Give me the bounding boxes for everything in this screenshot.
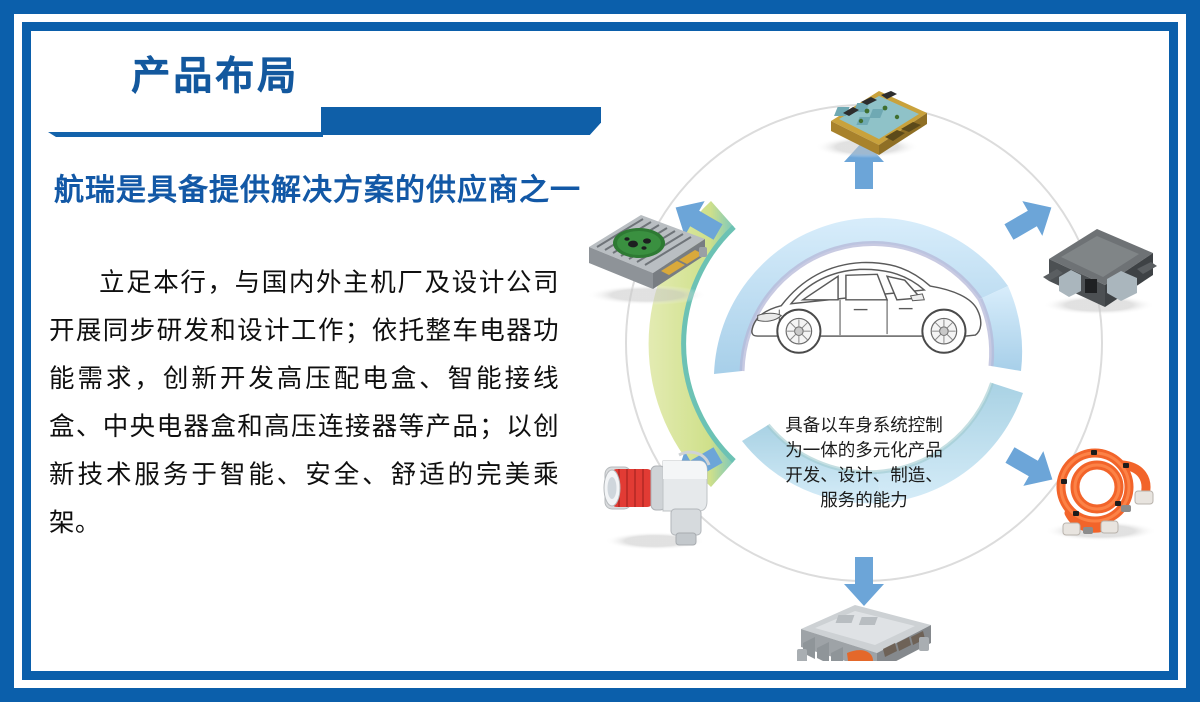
arrow-up-right-icon: [999, 190, 1061, 249]
arc-blue-right-upper: [980, 286, 1022, 371]
caption-line-4: 服务的能力: [749, 488, 979, 513]
section-subtitle: 航瑞是具备提供解决方案的供应商之一: [54, 165, 581, 209]
product-hv-connector-image: [604, 452, 709, 550]
product-hv-cable-harness-image: [1045, 450, 1157, 541]
section-body-paragraph: 立足本行，与国内外主机厂及设计公司开展同步研发和设计工作；依托整车电器功能需求，…: [49, 259, 559, 547]
section-title-block: 产品布局: [31, 51, 621, 131]
page-title: 产品布局: [131, 51, 299, 103]
product-fuse-box-pcb-image: [815, 91, 927, 158]
slide-content-area: 产品布局 航瑞是具备提供解决方案的供应商之一 立足本行，与国内外主机厂及设计公司…: [31, 31, 1169, 671]
product-power-distribution-unit-image: [787, 605, 939, 661]
caption-line-3: 开发、设计、制造、: [749, 463, 979, 488]
diagram-center-caption: 具备以车身系统控制 为一体的多元化产品 开发、设计、制造、 服务的能力: [749, 413, 979, 513]
product-layout-diagram: 具备以车身系统控制 为一体的多元化产品 开发、设计、制造、 服务的能力: [559, 41, 1169, 661]
product-hv-junction-box-image: [1043, 229, 1157, 315]
title-underline-rule: [48, 132, 323, 137]
diagram-svg: [559, 41, 1169, 661]
caption-line-1: 具备以车身系统控制: [749, 413, 979, 438]
caption-line-2: 为一体的多元化产品: [749, 438, 979, 463]
